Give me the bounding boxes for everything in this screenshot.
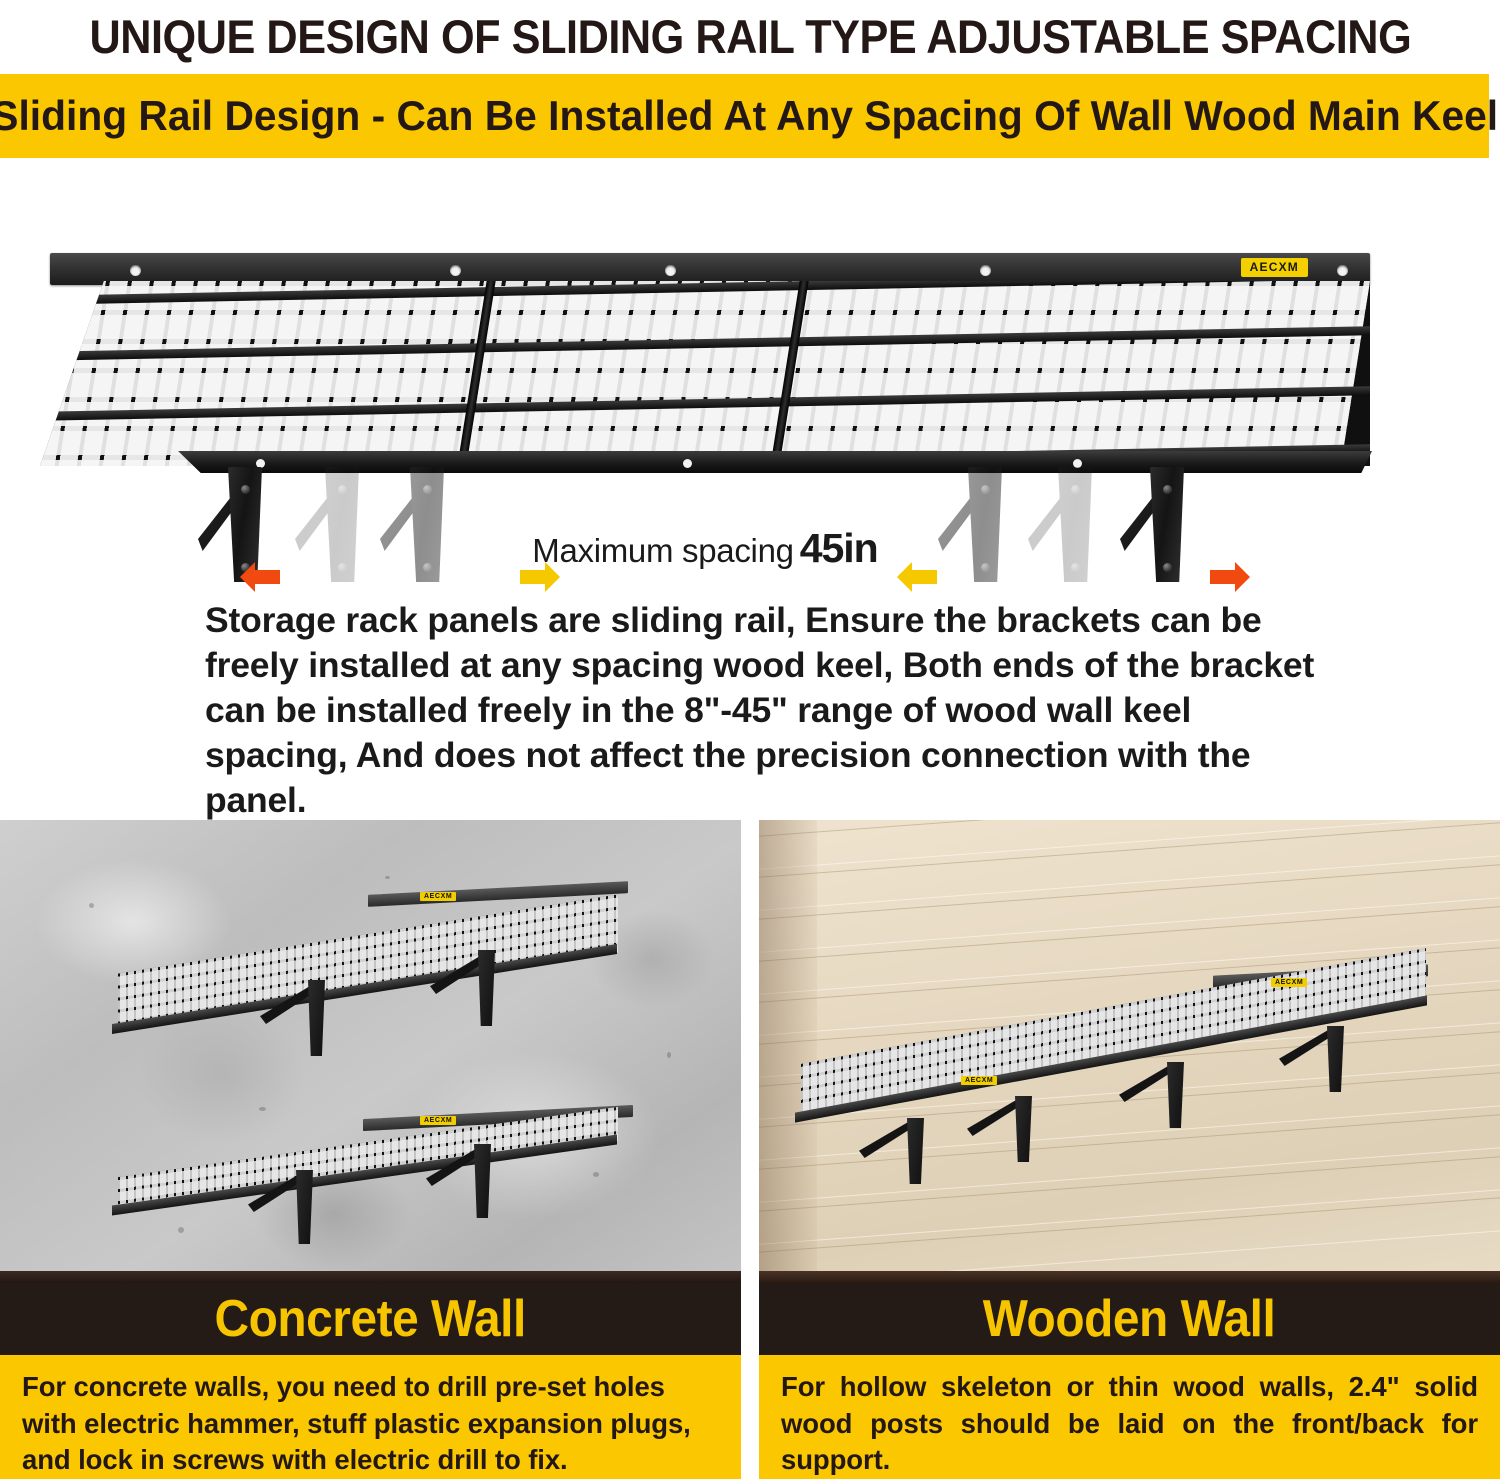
brand-label: AECXM — [1271, 978, 1307, 987]
bracket-leg — [1015, 1096, 1032, 1162]
brand-label: AECXM — [420, 1116, 456, 1125]
bracket-bolt — [423, 485, 432, 494]
spacing-label-text: Maximum spacing — [532, 532, 793, 569]
bracket-leg — [308, 980, 325, 1056]
brand-label: AECXM — [420, 892, 456, 901]
caption-title-wooden: Wooden Wall — [983, 1289, 1276, 1349]
brand-label: AECXM — [961, 1076, 997, 1085]
page-title-bar: UNIQUE DESIGN OF SLIDING RAIL TYPE ADJUS… — [0, 0, 1500, 72]
texture-speck — [89, 903, 94, 908]
mounting-hole — [665, 265, 676, 276]
wooden-wall-photo: AECXM AECXM — [759, 820, 1500, 1283]
texture-speck — [385, 876, 390, 879]
caption-bar-concrete: Concrete Wall — [0, 1283, 741, 1355]
mounting-hole — [450, 265, 461, 276]
hero-section: AECXM — [0, 158, 1500, 798]
subtitle-text: Sliding Rail Design - Can Be Installed A… — [0, 92, 1498, 140]
shelf-wire-deck — [40, 281, 1370, 466]
shelf-lower: AECXM — [108, 1112, 628, 1262]
concrete-wall-photo: AECXM AECXM — [0, 820, 741, 1283]
photo-bottom-edge — [759, 1271, 1500, 1283]
shelf-long: AECXM AECXM — [793, 970, 1433, 1170]
shelf-upper: AECXM — [108, 888, 628, 1048]
mounting-hole — [980, 265, 991, 276]
caption-body-concrete: For concrete walls, you need to drill pr… — [0, 1355, 741, 1479]
mounting-hole — [130, 265, 141, 276]
shelf-back-rail: AECXM — [50, 253, 1370, 285]
photo-bottom-edge — [0, 1271, 741, 1283]
panel-wooden-wall: AECXM AECXM Wooden Wall For hollow skele… — [759, 820, 1500, 1479]
bracket-leg — [1167, 1062, 1184, 1128]
bracket-web — [1119, 1062, 1175, 1102]
caption-body-text-concrete: For concrete walls, you need to drill pr… — [22, 1369, 719, 1479]
wire-mesh-pattern — [40, 281, 1370, 466]
brand-label: AECXM — [1241, 258, 1308, 277]
hero-description: Storage rack panels are sliding rail, En… — [205, 598, 1320, 823]
spacing-annotation: Maximum spacing45in — [40, 525, 1370, 572]
bracket-leg — [296, 1170, 313, 1244]
panel-concrete-wall: AECXM AECXM Concrete Wall For concrete w… — [0, 820, 741, 1479]
page-title: UNIQUE DESIGN OF SLIDING RAIL TYPE ADJUS… — [89, 9, 1411, 64]
bracket-bolt — [981, 485, 990, 494]
bracket-leg — [478, 950, 495, 1026]
product-illustration: AECXM — [40, 253, 1370, 553]
bracket-bolt — [338, 485, 347, 494]
subtitle-banner: Sliding Rail Design - Can Be Installed A… — [0, 74, 1489, 158]
bracket-web — [967, 1096, 1023, 1136]
texture-speck — [259, 1107, 266, 1111]
bracket-bolt — [1163, 485, 1172, 494]
bracket-leg — [474, 1144, 491, 1218]
caption-title-concrete: Concrete Wall — [215, 1289, 526, 1349]
caption-bar-wooden: Wooden Wall — [759, 1283, 1500, 1355]
wall-type-panels: AECXM AECXM Concrete Wall For concrete w… — [0, 820, 1500, 1479]
bracket-web — [1279, 1026, 1335, 1066]
spacing-value: 45in — [800, 525, 878, 571]
bracket-leg — [1327, 1026, 1344, 1092]
mounting-hole — [1337, 265, 1348, 276]
bracket-bolt — [241, 485, 250, 494]
mounting-hole — [683, 459, 692, 468]
texture-speck — [667, 1052, 671, 1058]
caption-body-text-wooden: For hollow skeleton or thin wood walls, … — [781, 1369, 1478, 1479]
caption-body-wooden: For hollow skeleton or thin wood walls, … — [759, 1355, 1500, 1479]
bracket-web — [859, 1118, 915, 1158]
bracket-bolt — [1071, 485, 1080, 494]
